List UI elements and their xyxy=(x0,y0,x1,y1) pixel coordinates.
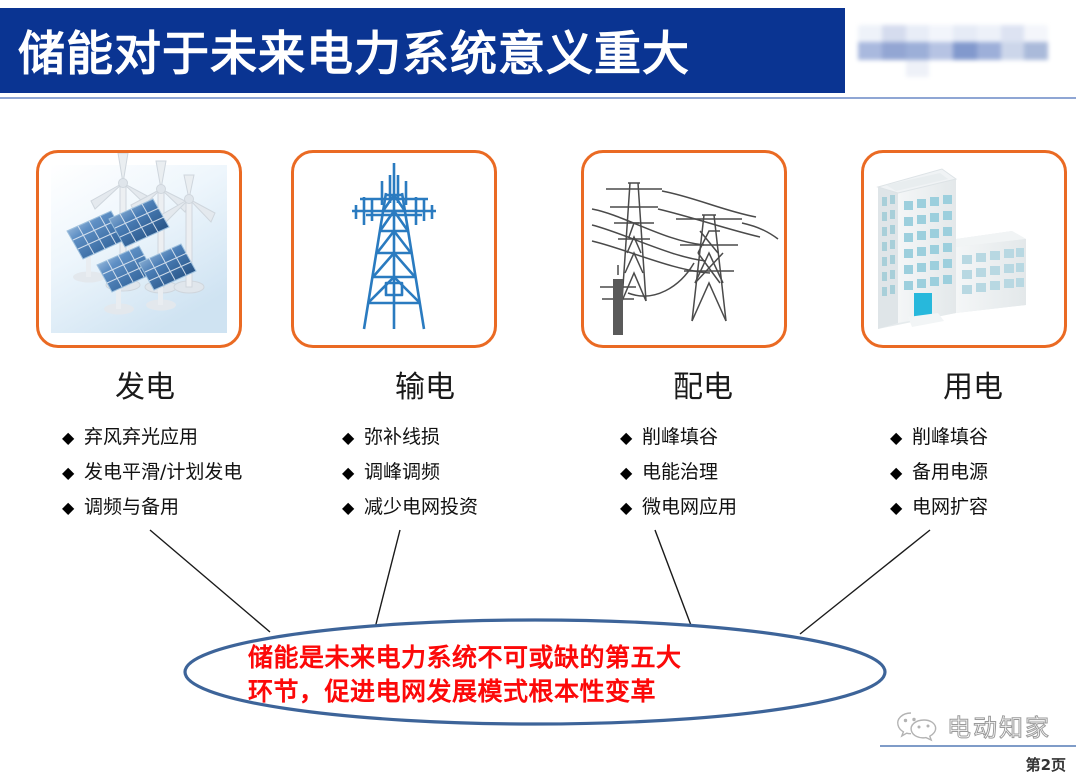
connector-line-generation xyxy=(150,530,270,632)
list-item: ◆调峰调频 xyxy=(342,455,550,490)
list-item: ◆备用电源 xyxy=(890,455,1076,490)
stage-bullets-distribution: ◆削峰填谷 ◆电能治理 ◆微电网应用 xyxy=(578,420,828,525)
list-item: ◆电网扩容 xyxy=(890,490,1076,525)
callout-line-2: 环节，促进电网发展模式根本性变革 xyxy=(248,675,768,709)
diamond-bullet-icon: ◆ xyxy=(890,455,912,490)
buildings-icon xyxy=(864,153,1064,345)
diamond-bullet-icon: ◆ xyxy=(342,490,364,525)
diamond-bullet-icon: ◆ xyxy=(62,455,84,490)
stage-icon-box-distribution xyxy=(581,150,787,348)
bullet-label: 弥补线损 xyxy=(364,420,440,455)
list-item: ◆微电网应用 xyxy=(620,490,828,525)
transmission-tower-icon xyxy=(294,153,494,345)
stage-heading-distribution: 配电 xyxy=(578,362,828,406)
header-divider xyxy=(0,97,1076,99)
list-item: ◆弥补线损 xyxy=(342,420,550,455)
redacted-logo xyxy=(858,25,1048,77)
bullet-label: 调峰调频 xyxy=(364,455,440,490)
stage-column-generation: 发电 ◆弃风弃光应用 ◆发电平滑/计划发电 ◆调频与备用 xyxy=(20,362,270,525)
page-number: 第2页 xyxy=(1026,754,1066,775)
stage-icon-box-consumption xyxy=(861,150,1067,348)
distribution-lines-icon xyxy=(584,153,784,345)
bullet-label: 备用电源 xyxy=(912,455,988,490)
stage-icon-box-transmission xyxy=(291,150,497,348)
bullet-label: 电网扩容 xyxy=(912,490,988,525)
stage-heading-generation: 发电 xyxy=(20,362,270,406)
page-title: 储能对于未来电力系统意义重大 xyxy=(18,15,690,84)
connector-line-transmission xyxy=(375,530,400,628)
bullet-label: 削峰填谷 xyxy=(912,420,988,455)
stage-icon-box-generation xyxy=(36,150,242,348)
stage-heading-transmission: 输电 xyxy=(300,362,550,406)
list-item: ◆发电平滑/计划发电 xyxy=(62,455,270,490)
watermark: 电动知家 xyxy=(895,708,1051,743)
watermark-label: 电动知家 xyxy=(947,708,1051,743)
solar-wind-icon xyxy=(39,153,239,345)
bullet-label: 削峰填谷 xyxy=(642,420,718,455)
diamond-bullet-icon: ◆ xyxy=(342,420,364,455)
list-item: ◆弃风弃光应用 xyxy=(62,420,270,455)
stage-bullets-consumption: ◆削峰填谷 ◆备用电源 ◆电网扩容 xyxy=(848,420,1076,525)
stage-bullets-generation: ◆弃风弃光应用 ◆发电平滑/计划发电 ◆调频与备用 xyxy=(20,420,270,525)
stage-heading-consumption: 用电 xyxy=(848,362,1076,406)
diamond-bullet-icon: ◆ xyxy=(620,455,642,490)
callout-message: 储能是未来电力系统不可或缺的第五大 环节，促进电网发展模式根本性变革 xyxy=(248,641,768,709)
stage-column-consumption: 用电 ◆削峰填谷 ◆备用电源 ◆电网扩容 xyxy=(848,362,1076,525)
stage-column-transmission: 输电 ◆弥补线损 ◆调峰调频 ◆减少电网投资 xyxy=(300,362,550,525)
list-item: ◆削峰填谷 xyxy=(890,420,1076,455)
diamond-bullet-icon: ◆ xyxy=(620,420,642,455)
footer-divider xyxy=(880,745,1076,747)
bullet-label: 电能治理 xyxy=(642,455,718,490)
list-item: ◆调频与备用 xyxy=(62,490,270,525)
bullet-label: 调频与备用 xyxy=(84,490,179,525)
bullet-label: 减少电网投资 xyxy=(364,490,478,525)
bullet-label: 发电平滑/计划发电 xyxy=(84,455,242,490)
diamond-bullet-icon: ◆ xyxy=(62,490,84,525)
connector-line-consumption xyxy=(800,530,930,634)
list-item: ◆电能治理 xyxy=(620,455,828,490)
wechat-icon xyxy=(895,709,939,743)
bullet-label: 微电网应用 xyxy=(642,490,737,525)
diamond-bullet-icon: ◆ xyxy=(620,490,642,525)
diamond-bullet-icon: ◆ xyxy=(342,455,364,490)
bullet-label: 弃风弃光应用 xyxy=(84,420,198,455)
diamond-bullet-icon: ◆ xyxy=(62,420,84,455)
stage-bullets-transmission: ◆弥补线损 ◆调峰调频 ◆减少电网投资 xyxy=(300,420,550,525)
diamond-bullet-icon: ◆ xyxy=(890,490,912,525)
diamond-bullet-icon: ◆ xyxy=(890,420,912,455)
title-bar: 储能对于未来电力系统意义重大 xyxy=(0,8,845,93)
list-item: ◆削峰填谷 xyxy=(620,420,828,455)
stage-column-distribution: 配电 ◆削峰填谷 ◆电能治理 ◆微电网应用 xyxy=(578,362,828,525)
list-item: ◆减少电网投资 xyxy=(342,490,550,525)
connector-line-distribution xyxy=(655,530,692,628)
callout-line-1: 储能是未来电力系统不可或缺的第五大 xyxy=(248,641,768,675)
slide-canvas: 储能对于未来电力系统意义重大 xyxy=(0,0,1076,780)
